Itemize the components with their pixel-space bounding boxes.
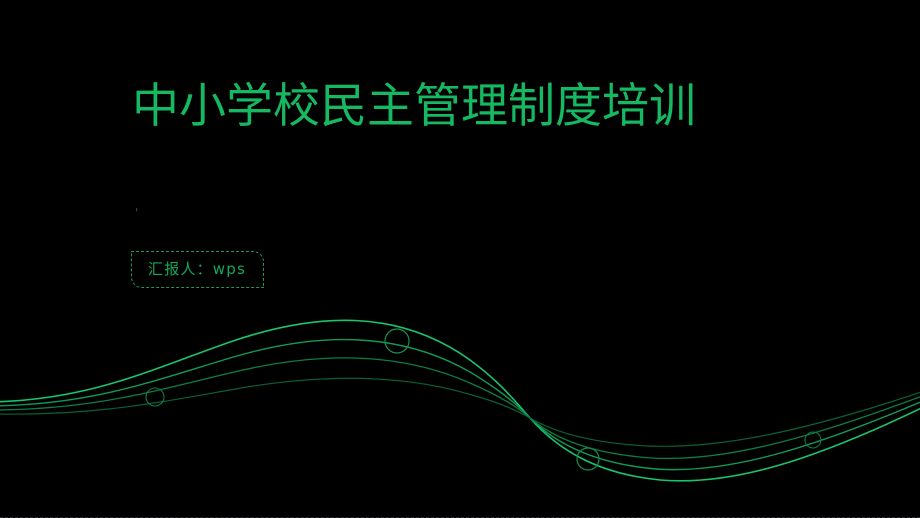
wave-marker-3	[577, 448, 599, 470]
wave-marker-1	[385, 329, 409, 353]
wave-marker-4	[805, 432, 821, 448]
wave-curve-2	[0, 340, 920, 470]
wave-curve-4	[0, 378, 920, 446]
wave-marker-2	[146, 388, 164, 406]
wave-curve-1	[0, 320, 920, 481]
wave-curve-3	[0, 358, 920, 459]
presenter-chip: 汇报人：wps	[131, 251, 264, 288]
presentation-slide: 中小学校民主管理制度培训 ' 汇报人：wps	[0, 0, 920, 518]
title-block: 中小学校民主管理制度培训	[132, 78, 732, 135]
title-trailing-mark: '	[135, 207, 139, 220]
page-title: 中小学校民主管理制度培训	[132, 78, 732, 135]
presenter-label: 汇报人：wps	[148, 260, 246, 278]
